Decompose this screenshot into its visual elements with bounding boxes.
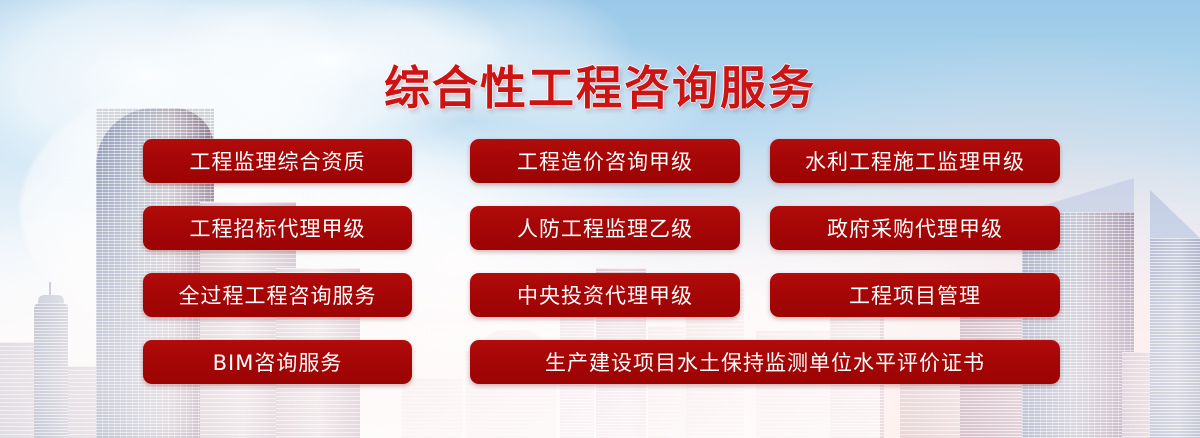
qualification-badge[interactable]: 工程造价咨询甲级 bbox=[470, 139, 740, 183]
qualification-badge-grid: 工程监理综合资质 工程造价咨询甲级 水利工程施工监理甲级 工程招标代理甲级 人防… bbox=[0, 0, 1200, 438]
qualification-badge[interactable]: 工程招标代理甲级 bbox=[143, 206, 412, 250]
qualification-badge[interactable]: 生产建设项目水土保持监测单位水平评价证书 bbox=[470, 340, 1060, 384]
qualification-badge[interactable]: 政府采购代理甲级 bbox=[770, 206, 1060, 250]
qualification-badge[interactable]: 工程监理综合资质 bbox=[143, 139, 412, 183]
banner-content: 综合性工程咨询服务 工程监理综合资质 工程造价咨询甲级 水利工程施工监理甲级 工… bbox=[0, 0, 1200, 438]
qualification-badge[interactable]: 人防工程监理乙级 bbox=[470, 206, 740, 250]
qualification-badge[interactable]: 全过程工程咨询服务 bbox=[143, 273, 412, 317]
qualification-badge[interactable]: 中央投资代理甲级 bbox=[470, 273, 740, 317]
qualification-badge[interactable]: 工程项目管理 bbox=[770, 273, 1060, 317]
service-qualification-banner: 综合性工程咨询服务 工程监理综合资质 工程造价咨询甲级 水利工程施工监理甲级 工… bbox=[0, 0, 1200, 438]
qualification-badge[interactable]: BIM咨询服务 bbox=[143, 340, 412, 384]
qualification-badge[interactable]: 水利工程施工监理甲级 bbox=[770, 139, 1060, 183]
